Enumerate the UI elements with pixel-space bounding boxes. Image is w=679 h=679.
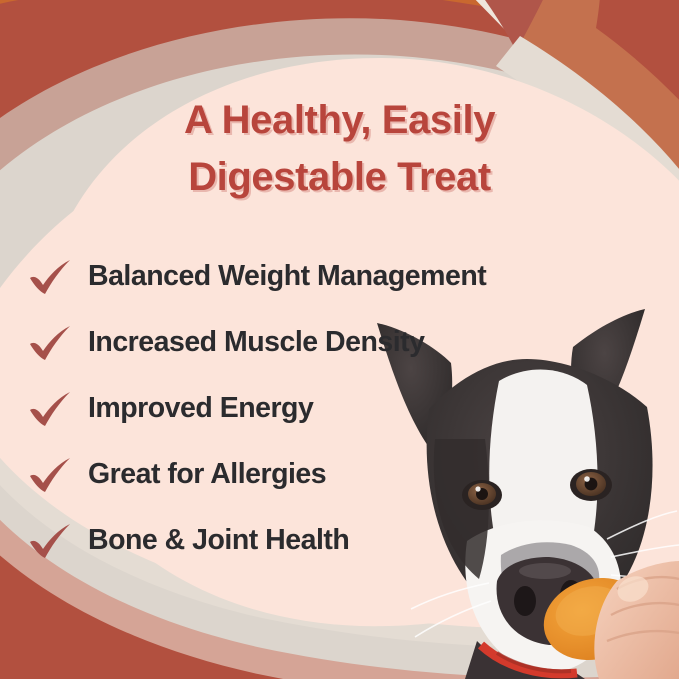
list-item: Bone & Joint Health <box>0 507 679 573</box>
list-item: Great for Allergies <box>0 441 679 507</box>
list-item-label: Bone & Joint Health <box>88 524 349 557</box>
list-item: Balanced Weight Management <box>0 243 679 309</box>
list-item: Improved Energy <box>0 375 679 441</box>
list-item-label: Balanced Weight Management <box>88 260 486 293</box>
poster-canvas: A Healthy, Easily Digestable Treat <box>0 0 679 679</box>
check-icon <box>24 518 76 562</box>
list-item-label: Improved Energy <box>88 392 313 425</box>
check-icon <box>24 386 76 430</box>
check-icon <box>24 452 76 496</box>
check-icon <box>24 320 76 364</box>
list-item-label: Increased Muscle Density <box>88 326 425 359</box>
benefits-list: Balanced Weight Management Increased Mus… <box>0 243 679 573</box>
list-item: Increased Muscle Density <box>0 309 679 375</box>
list-item-label: Great for Allergies <box>88 458 326 491</box>
check-icon <box>24 254 76 298</box>
dog-nostril-left <box>514 586 536 616</box>
